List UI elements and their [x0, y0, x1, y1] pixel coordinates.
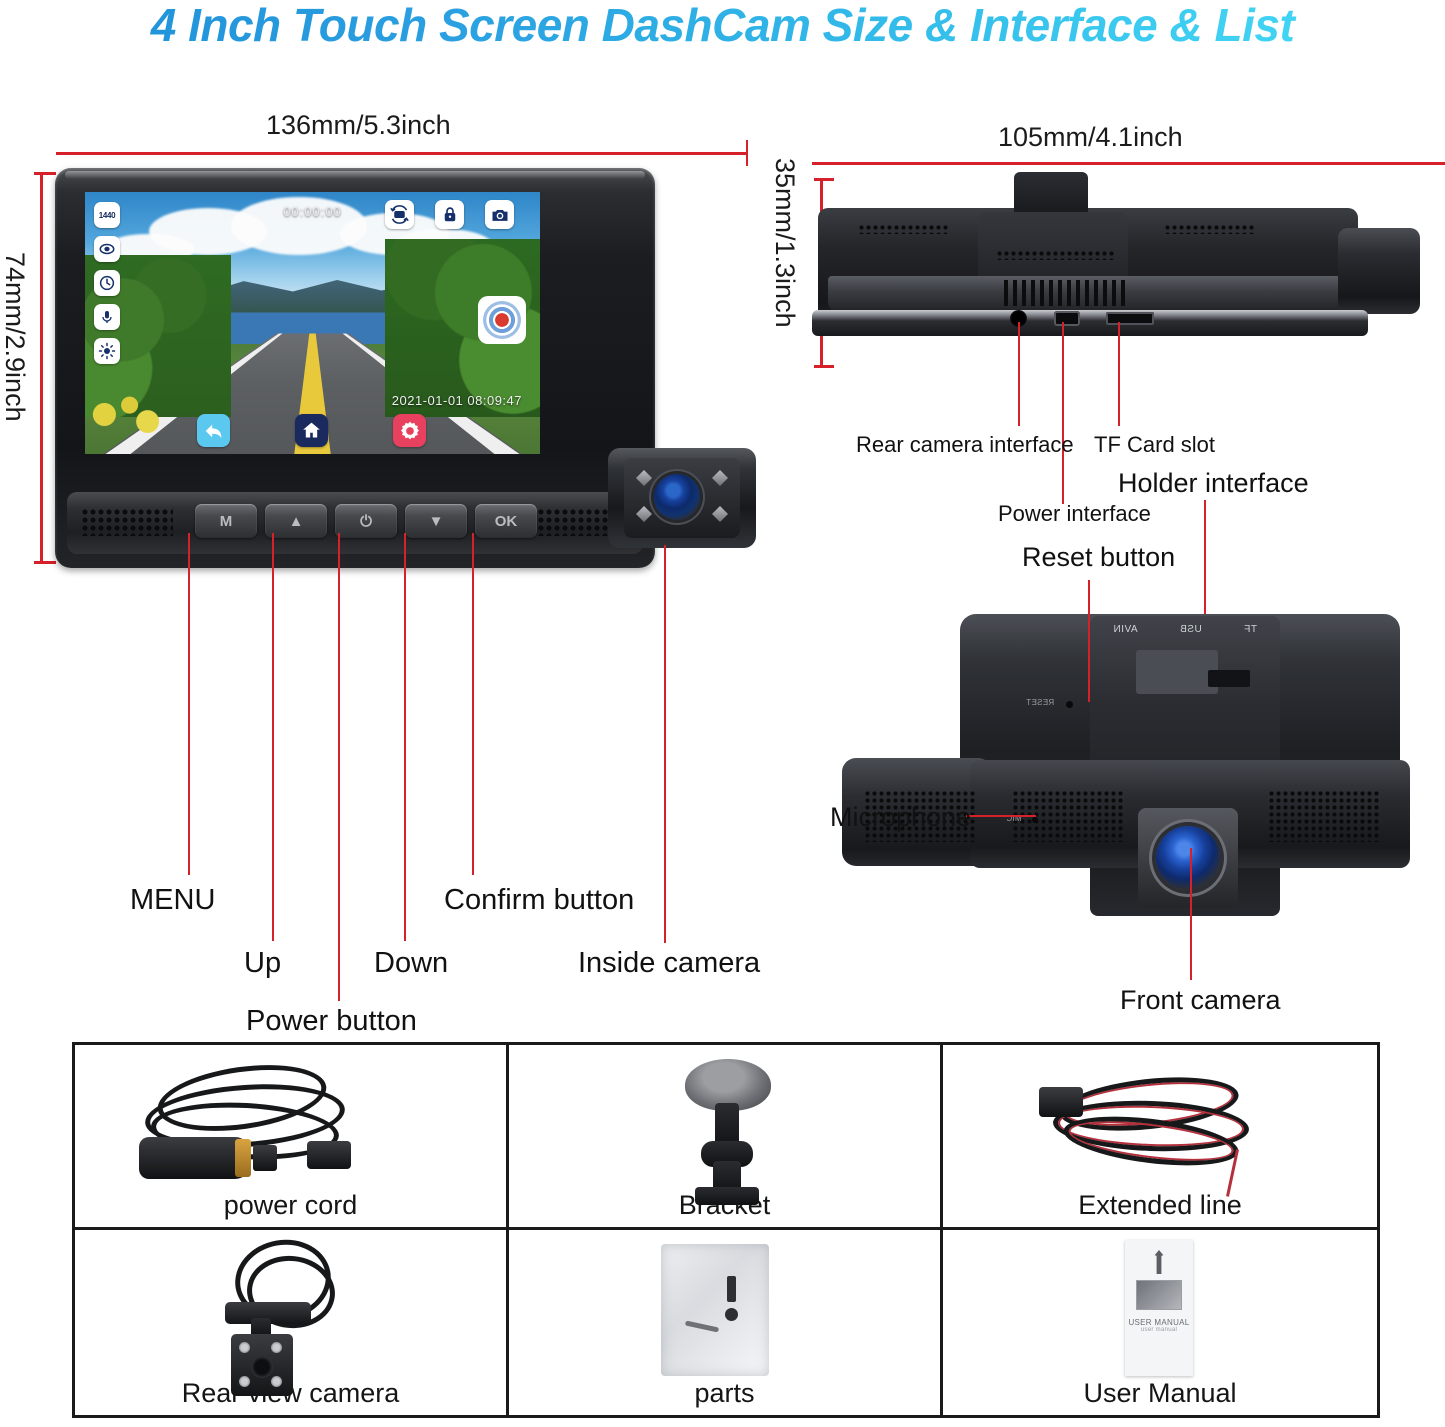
rvc-led-3-icon [239, 1376, 250, 1387]
rear-grille-right [1268, 790, 1380, 842]
parts-art [509, 1230, 940, 1379]
callout-line-microphone [966, 815, 1036, 817]
timer-icon[interactable] [94, 270, 120, 296]
date-stamp: 2021-01-01 08:09:47 [392, 393, 522, 408]
callout-power-interface: Power interface [998, 501, 1151, 527]
bracket-art [509, 1045, 940, 1191]
power-cord-art [75, 1045, 506, 1191]
rvc-led-4-icon [271, 1376, 282, 1387]
callout-line-up [272, 533, 274, 941]
down-button[interactable]: ▼ [405, 504, 467, 538]
dimension-depth-label: 105mm/4.1inch [998, 122, 1183, 153]
callout-front-camera: Front camera [1120, 985, 1281, 1016]
mini-usb-connector [307, 1141, 351, 1169]
accessory-extended-line: Extended line [943, 1045, 1377, 1230]
front-camera-lens [1156, 826, 1220, 890]
extline-connector [1039, 1087, 1083, 1117]
callout-line-tf-card-slot [1118, 322, 1120, 426]
dimension-thickness-label: 35mm/1.3inch [769, 158, 800, 328]
accessory-caption: power cord [224, 1191, 358, 1223]
tf-marking: TF [1244, 624, 1257, 635]
rear-port-markings: TF USB AVIN [1092, 618, 1278, 640]
rvc-led-2-icon [271, 1342, 282, 1353]
home-icon[interactable] [295, 414, 328, 447]
rvc-lens [251, 1356, 273, 1378]
avin-marking: AVIN [1113, 624, 1138, 635]
holder-slot-inner [1208, 670, 1250, 687]
settings-gear-icon[interactable] [393, 414, 426, 447]
accessories-grid: power cord Bracket Extended line [72, 1042, 1380, 1418]
callout-line-rear-camera-interface [1018, 322, 1020, 426]
accessory-bracket: Bracket [509, 1045, 943, 1230]
dashcam-front-view: 00:00:00 2021-01-01 08:09:47 1440 [55, 168, 655, 568]
inside-camera-lens [654, 474, 700, 520]
rear-view-camera-art [75, 1230, 506, 1379]
inside-camera-module [608, 448, 756, 548]
page-title: 4 Inch Touch Screen DashCam Size & Inter… [0, 0, 1445, 52]
callout-microphone: Microphone [830, 802, 971, 833]
accessory-parts: parts [509, 1230, 943, 1415]
callout-line-inside-camera [664, 545, 666, 943]
dimension-height-label: 74mm/2.9inch [0, 252, 30, 422]
callout-line-power [338, 533, 340, 1001]
accessory-caption: parts [694, 1379, 754, 1411]
top-vent-dots-center [996, 250, 1114, 260]
callout-line-power-interface [1062, 322, 1064, 504]
lock-icon[interactable] [435, 200, 464, 229]
menu-button[interactable]: M [195, 504, 257, 538]
speaker-grille-left [81, 508, 173, 536]
callout-holder-interface: Holder interface [1118, 468, 1309, 499]
callout-power-button: Power button [246, 1005, 417, 1038]
callout-up: Up [244, 947, 281, 980]
callout-line-front-camera [1190, 848, 1192, 980]
button-bar: M ▲ ⏻ ▼ OK [67, 492, 643, 554]
callout-inside-camera: Inside camera [578, 947, 760, 980]
accessory-rear-view-camera: Rear view camera [75, 1230, 509, 1415]
dimension-depth-line [812, 162, 1445, 165]
callout-rear-camera-interface: Rear camera interface [856, 432, 1074, 458]
dimension-thickness-tick-bottom [814, 365, 834, 368]
manual-sub-text: user manual [1141, 1327, 1177, 1333]
holder-interface-slot[interactable] [1136, 650, 1218, 694]
dimension-height-tick-bottom [34, 561, 56, 564]
top-view-base [812, 310, 1368, 336]
accessory-power-cord: power cord [75, 1045, 509, 1230]
top-vent-dots-left [858, 224, 950, 234]
dimension-width-label: 136mm/5.3inch [266, 110, 451, 141]
callout-tf-card-slot: TF Card slot [1094, 432, 1215, 458]
top-view-lens-barrel [1338, 228, 1420, 314]
accessory-caption: User Manual [1083, 1379, 1236, 1411]
back-arrow-icon[interactable] [197, 414, 230, 447]
charger-tip [253, 1145, 277, 1171]
bracket-clip [695, 1187, 759, 1205]
dashcam-rear-view: TF USB AVIN RESET MIC [820, 608, 1420, 948]
charger-gold-ring [235, 1139, 251, 1177]
callout-line-confirm [472, 533, 474, 875]
accessory-user-manual: USER MANUAL user manual User Manual [943, 1230, 1377, 1415]
screw-1 [727, 1276, 736, 1302]
reset-marking: RESET [1026, 698, 1054, 707]
record-button[interactable] [478, 296, 526, 344]
resolution-badge-icon[interactable]: 1440 [94, 202, 120, 228]
brightness-icon[interactable] [94, 338, 120, 364]
ok-button[interactable]: OK [475, 504, 537, 538]
usb-marking: USB [1180, 624, 1202, 635]
microphone-hole [1032, 817, 1038, 823]
shell-highlight [65, 171, 645, 179]
record-rings-icon [483, 301, 521, 339]
recording-timer: 00:00:00 [85, 204, 540, 219]
up-button[interactable]: ▲ [265, 504, 327, 538]
extended-line-art [943, 1045, 1377, 1191]
top-vent-slots [1004, 280, 1128, 306]
user-manual-art: USER MANUAL user manual [943, 1230, 1377, 1379]
accessory-caption: Extended line [1078, 1191, 1242, 1223]
manual-title-text: USER MANUAL [1128, 1318, 1189, 1327]
callout-down: Down [374, 947, 448, 980]
camera-switch-icon[interactable] [385, 200, 414, 229]
dimension-height-line [40, 172, 43, 564]
power-usb-port[interactable] [1054, 311, 1080, 326]
dimension-width-line [56, 152, 746, 155]
top-vent-dots-right [1164, 224, 1256, 234]
screw-2 [725, 1308, 738, 1321]
callout-reset-button: Reset button [1022, 542, 1175, 573]
callout-menu: MENU [130, 884, 215, 917]
reset-pinhole[interactable] [1066, 701, 1073, 708]
callout-confirm-button: Confirm button [444, 884, 634, 917]
photo-mode-icon[interactable] [485, 200, 514, 229]
callout-line-down [404, 533, 406, 941]
tf-card-slot-port[interactable] [1106, 312, 1154, 325]
touch-screen[interactable]: 00:00:00 2021-01-01 08:09:47 1440 [85, 192, 540, 454]
manual-cover-icon [1149, 1250, 1169, 1274]
power-button[interactable]: ⏻ [335, 504, 397, 538]
scene-flowers [90, 391, 163, 438]
dimension-width-tick-right [746, 140, 748, 166]
manual-cover-image [1136, 1280, 1182, 1310]
rvc-led-1-icon [239, 1342, 250, 1353]
callout-line-reset-button [1088, 580, 1090, 702]
loop-recording-icon[interactable] [94, 236, 120, 262]
callout-line-menu [188, 533, 190, 875]
manual-booklet: USER MANUAL user manual [1125, 1240, 1193, 1376]
parts-bag [661, 1244, 769, 1376]
dimension-height-tick-top [34, 172, 56, 175]
callout-line-holder-interface [1204, 500, 1206, 624]
microphone-icon[interactable] [94, 304, 120, 330]
